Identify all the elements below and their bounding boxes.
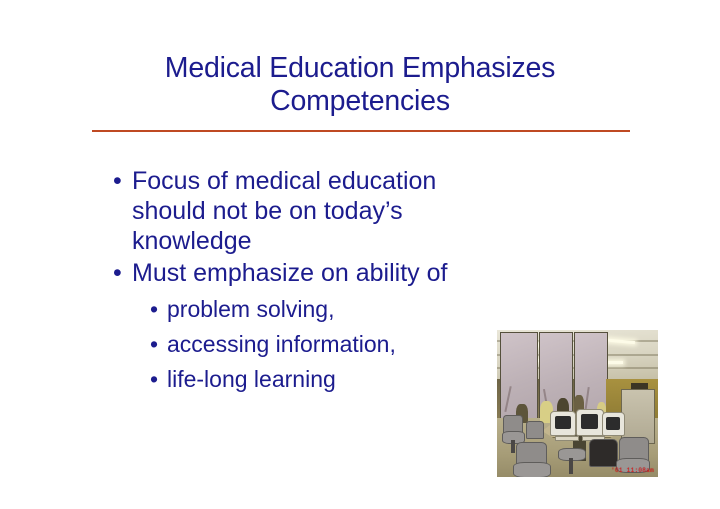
sub-bullet-text: accessing information, — [167, 331, 396, 357]
slide-body: • Focus of medical education should not … — [110, 166, 530, 397]
bullet-marker-icon: • — [113, 166, 122, 196]
photo-keyboard — [555, 436, 580, 441]
photo-office-chair — [589, 439, 618, 467]
bullet-text-line: Must emphasize on ability of — [132, 258, 530, 288]
bullet-marker-icon: • — [150, 327, 158, 362]
bullet-text-line: should not be on today’s — [132, 196, 530, 226]
photo-monitor-screen — [606, 417, 620, 430]
slide-title-line-2: Competencies — [60, 85, 660, 118]
photo-office-chair — [526, 421, 544, 439]
sub-bullet-list: • problem solving, • accessing informati… — [110, 292, 530, 397]
slide-title: Medical Education Emphasizes Competencie… — [60, 52, 660, 118]
computer-classroom-photo: '01 11:08am — [497, 330, 658, 477]
photo-computer-monitor — [550, 411, 576, 437]
sub-bullet-text: problem solving, — [167, 296, 334, 322]
photo-chair-post — [569, 458, 573, 474]
bullet-marker-icon: • — [150, 292, 158, 327]
sub-bullet-life-long-learning: • life-long learning — [150, 362, 530, 397]
photo-office-chair — [513, 462, 550, 477]
bullet-marker-icon: • — [150, 362, 158, 397]
bullet-text-line: Focus of medical education — [132, 166, 530, 196]
presentation-slide: Medical Education Emphasizes Competencie… — [0, 0, 720, 509]
sub-bullet-problem-solving: • problem solving, — [150, 292, 530, 327]
bullet-item-focus: • Focus of medical education should not … — [110, 166, 530, 256]
photo-computer-monitor — [576, 409, 604, 436]
sub-bullet-accessing-information: • accessing information, — [150, 327, 530, 362]
photo-timestamp-watermark: '01 11:08am — [611, 467, 654, 474]
photo-monitor-screen — [581, 414, 599, 428]
bullet-text-line: knowledge — [132, 226, 530, 256]
photo-computer-monitor — [602, 412, 625, 436]
bullet-item-ability: • Must emphasize on ability of — [110, 258, 530, 288]
photo-monitor-screen — [555, 416, 571, 430]
sub-bullet-text: life-long learning — [167, 366, 336, 392]
photo-content: '01 11:08am — [497, 330, 658, 477]
bullet-marker-icon: • — [113, 258, 122, 288]
photo-cubicle-partition — [621, 389, 655, 444]
slide-title-line-1: Medical Education Emphasizes — [60, 52, 660, 85]
photo-chair-post — [511, 440, 514, 453]
title-divider-rule — [92, 130, 630, 132]
